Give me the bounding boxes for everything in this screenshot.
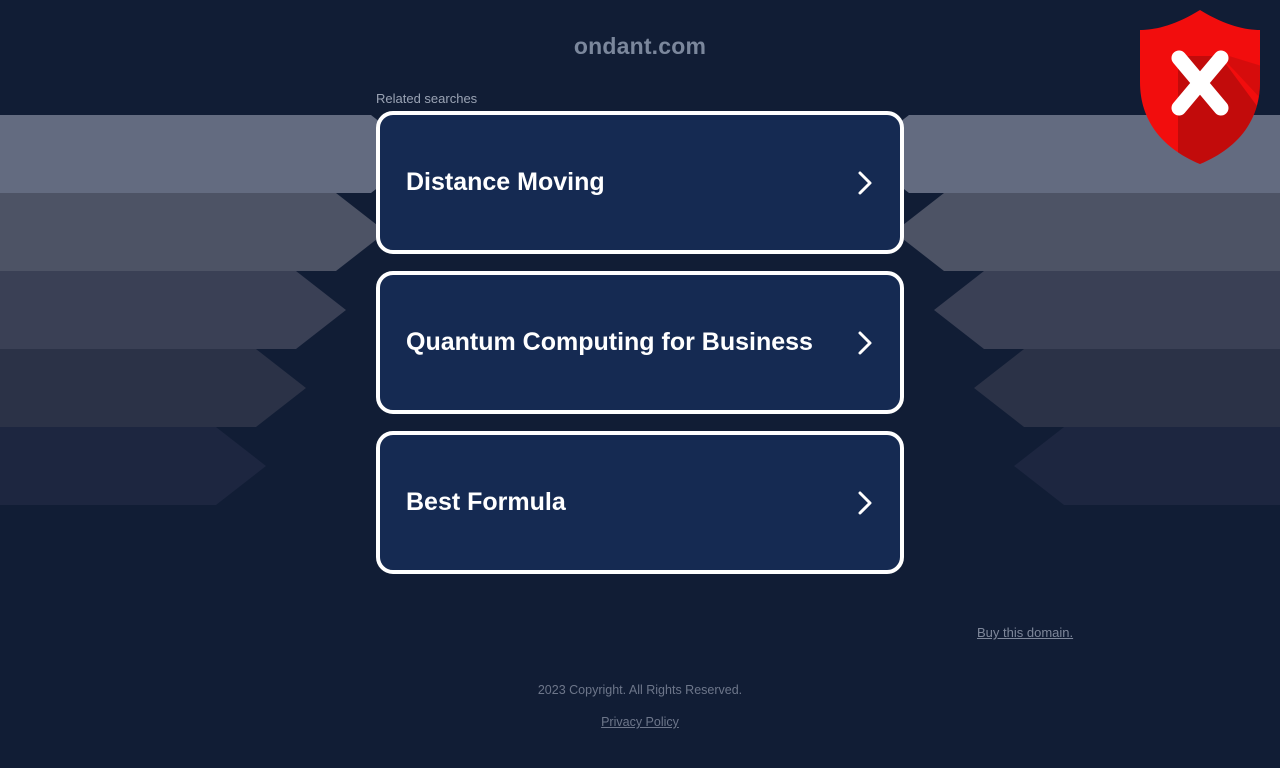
background-chevron-right-3 [974, 349, 1280, 427]
background-chevron-left-4 [0, 427, 266, 505]
page-root: ondant.com Related searches Distance Mov… [0, 0, 1280, 768]
background-chevron-left-0 [0, 115, 421, 193]
related-search-card-1[interactable]: Quantum Computing for Business [376, 271, 904, 414]
background-chevron-left-1 [0, 193, 386, 271]
chevron-right-icon [854, 488, 876, 518]
background-chevron-right-2 [934, 271, 1280, 349]
copyright-text: 2023 Copyright. All Rights Reserved. [0, 683, 1280, 697]
related-search-label: Quantum Computing for Business [406, 329, 813, 357]
background-chevron-right-4 [1014, 427, 1280, 505]
background-chevron-left-3 [0, 349, 306, 427]
chevron-right-icon [854, 328, 876, 358]
page-title: ondant.com [0, 33, 1280, 60]
related-search-label: Best Formula [406, 489, 566, 517]
related-search-label: Distance Moving [406, 169, 605, 197]
related-search-card-0[interactable]: Distance Moving [376, 111, 904, 254]
privacy-policy-link[interactable]: Privacy Policy [601, 715, 679, 729]
related-searches-label: Related searches [376, 91, 477, 106]
background-chevron-right-1 [894, 193, 1280, 271]
chevron-right-icon [854, 168, 876, 198]
shield-x-logo [1138, 8, 1262, 166]
privacy-policy-row: Privacy Policy [0, 713, 1280, 731]
background-chevron-left-2 [0, 271, 346, 349]
buy-this-domain-link[interactable]: Buy this domain. [977, 625, 1073, 640]
related-search-card-2[interactable]: Best Formula [376, 431, 904, 574]
related-searches-list: Distance Moving Quantum Computing for Bu… [376, 111, 904, 591]
